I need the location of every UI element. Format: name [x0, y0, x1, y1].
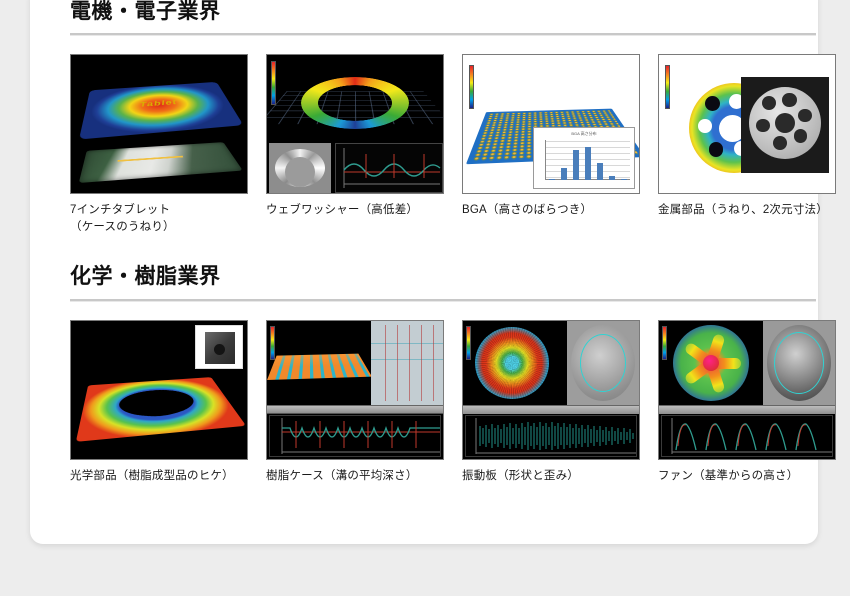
diaphragm-photo [571, 325, 635, 401]
tablet-heatmap: Tablet [79, 82, 243, 140]
section-title-electronics: 電機・電子業界 [50, 0, 798, 23]
list-item[interactable]: 金属部品（うねり、2次元寸法） [658, 54, 836, 235]
thumbnail-optical-part[interactable] [70, 320, 248, 460]
histogram-title: BGA 高さ分布 [534, 131, 634, 137]
measurement-circle-overlay [774, 332, 824, 394]
resin-measure-panel [371, 321, 443, 405]
caption-optical-part: 光学部品（樹脂成型品のヒケ） [70, 468, 248, 485]
histogram-bar [561, 168, 567, 180]
colorbar-icon [466, 326, 471, 360]
flange-disc [749, 87, 821, 159]
caption-line-1: ファン（基準からの高さ） [658, 468, 836, 485]
thumbnail-grid-chemical-resin: 光学部品（樹脂成型品のヒケ） [70, 320, 798, 485]
thumbnail-resin-case[interactable] [266, 320, 444, 460]
caption-bga: BGA（高さのばらつき） [462, 202, 640, 219]
washer-3d-panel [267, 55, 443, 141]
resin-profile-plot [269, 415, 441, 457]
washer-profile-plot [335, 143, 443, 193]
histogram-bars [546, 141, 630, 180]
pcb-flex-cable [118, 156, 184, 162]
fan-profile-plot [661, 415, 833, 457]
section-divider [70, 33, 816, 36]
histogram-bar [585, 147, 591, 181]
washer-photo [269, 143, 331, 193]
optical-part-photo [205, 332, 235, 364]
fan-hub [703, 355, 719, 371]
caption-line-1: BGA（高さのばらつき） [462, 202, 640, 219]
caption-resin-case: 樹脂ケース（溝の平均深さ） [266, 468, 444, 485]
section-chemical-resin: 化学・樹脂業界 光学部品（樹脂成型品のヒケ） [50, 265, 798, 484]
caption-line-1: 樹脂ケース（溝の平均深さ） [266, 468, 444, 485]
caption-wave-washer: ウェブワッシャー（高低差） [266, 202, 444, 219]
content-card: 電機・電子業界 Tablet 7インチタブレット （ケースのうねり） [30, 0, 818, 544]
diaphragm-photo-panel [567, 321, 639, 405]
section-divider [70, 299, 816, 302]
diaphragm-waveform-plot [465, 415, 637, 457]
optical-part-photo-inset [195, 325, 243, 369]
thumbnail-diaphragm[interactable] [462, 320, 640, 460]
section-title-chemical-resin: 化学・樹脂業界 [50, 265, 798, 288]
colorbar-icon [662, 326, 667, 360]
list-item[interactable]: Tablet 7インチタブレット （ケースのうねり） [70, 54, 248, 235]
caption-line-1: 7インチタブレット [70, 202, 248, 219]
list-item[interactable]: 光学部品（樹脂成型品のヒケ） [70, 320, 248, 485]
diaphragm-colormap-panel [463, 321, 567, 405]
panel-toolbar[interactable] [659, 405, 835, 414]
caption-line-1: 金属部品（うねり、2次元寸法） [658, 202, 836, 219]
fan-colormap [673, 325, 749, 401]
caption-line-1: 振動板（形状と歪み） [462, 468, 640, 485]
profile-chart [336, 144, 442, 192]
histogram-bar [597, 163, 603, 181]
section-electronics: 電機・電子業界 Tablet 7インチタブレット （ケースのうねり） [50, 0, 798, 235]
caption-line-2: （ケースのうねり） [70, 219, 248, 236]
list-item[interactable]: 樹脂ケース（溝の平均深さ） [266, 320, 444, 485]
fan-colormap-panel [659, 321, 763, 405]
tablet-pcb-photo [79, 142, 243, 183]
diaphragm-rings [475, 327, 549, 399]
histogram-bar [549, 179, 555, 180]
resin-groove-surface [267, 353, 372, 379]
list-item[interactable]: ウェブワッシャー（高低差） [266, 54, 444, 235]
colorbar-icon [665, 65, 670, 109]
list-item[interactable]: BGA 高さ分布 [462, 54, 640, 235]
panel-toolbar[interactable] [463, 405, 639, 414]
colorbar-icon [270, 326, 275, 360]
thumbnail-wave-washer[interactable] [266, 54, 444, 194]
caption-diaphragm: 振動板（形状と歪み） [462, 468, 640, 485]
histogram-bar [573, 150, 579, 180]
thumbnail-fan[interactable] [658, 320, 836, 460]
colorbar-icon [271, 61, 276, 105]
waveform-chart [466, 416, 638, 458]
thumbnail-bga[interactable]: BGA 高さ分布 [462, 54, 640, 194]
caption-line-1: ウェブワッシャー（高低差） [266, 202, 444, 219]
profile-chart [662, 416, 834, 458]
list-item[interactable]: 振動板（形状と歪み） [462, 320, 640, 485]
fan-photo [767, 325, 831, 401]
optical-surface-colormap [76, 377, 246, 442]
flange-photo [741, 77, 829, 173]
profile-chart [270, 416, 442, 458]
fan-photo-panel [763, 321, 835, 405]
tablet-image-label: Tablet [139, 99, 178, 109]
bga-histogram[interactable]: BGA 高さ分布 [533, 127, 635, 189]
histogram-bar [609, 176, 615, 180]
thumbnail-tablet[interactable]: Tablet [70, 54, 248, 194]
thumbnail-metal-part[interactable] [658, 54, 836, 194]
caption-line-1: 光学部品（樹脂成型品のヒケ） [70, 468, 248, 485]
panel-toolbar[interactable] [267, 405, 443, 414]
thumbnail-grid-electronics: Tablet 7インチタブレット （ケースのうねり） [70, 54, 798, 235]
resin-3d-panel [267, 321, 371, 405]
caption-metal-part: 金属部品（うねり、2次元寸法） [658, 202, 836, 219]
caption-tablet: 7インチタブレット （ケースのうねり） [70, 202, 248, 235]
histogram-bar [621, 179, 627, 180]
measurement-circle-overlay [580, 334, 626, 392]
washer-colormap-ring [301, 77, 409, 129]
optical-center-hole [119, 387, 199, 418]
caption-fan: ファン（基準からの高さ） [658, 468, 836, 485]
list-item[interactable]: ファン（基準からの高さ） [658, 320, 836, 485]
colorbar-icon [469, 65, 474, 109]
